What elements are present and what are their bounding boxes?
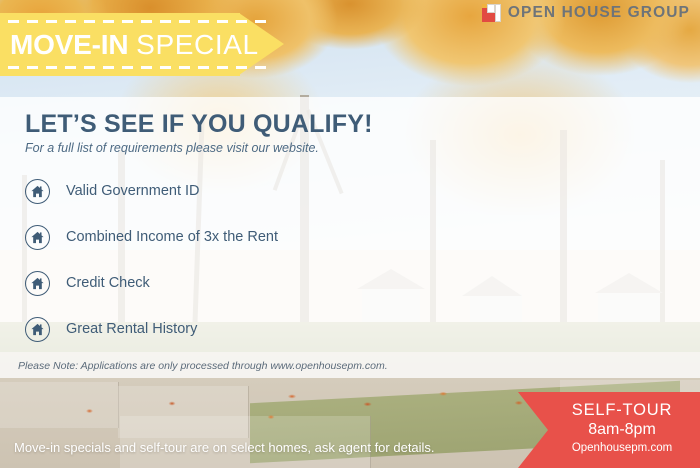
list-item-label: Valid Government ID (66, 183, 200, 199)
list-item-label: Combined Income of 3x the Rent (66, 229, 278, 245)
logo-text: OPEN HOUSE GROUP (508, 4, 690, 22)
brand-logo: OPEN HOUSE GROUP (482, 4, 690, 22)
house-badge-icon (25, 179, 50, 204)
page-title: LET’S SEE IF YOU QUALIFY! (25, 110, 373, 139)
ribbon-website: Openhousepm.com (548, 440, 696, 456)
list-item: Great Rental History (25, 306, 445, 352)
list-item-label: Credit Check (66, 275, 150, 291)
banner-bold-text: MOVE-IN (10, 29, 128, 60)
fallen-leaves (40, 396, 370, 426)
ribbon-hours: 8am-8pm (548, 420, 696, 440)
footer-disclaimer: Move-in specials and self-tour are on se… (14, 440, 435, 455)
banner-text: MOVE-IN SPECIAL (10, 30, 259, 60)
requirements-list: Valid Government ID Combined Income of 3… (25, 168, 445, 352)
house-badge-icon (25, 271, 50, 296)
application-note: Please Note: Applications are only proce… (18, 360, 388, 372)
house-badge-icon (25, 225, 50, 250)
list-item: Valid Government ID (25, 168, 445, 214)
ribbon-text-group: SELF-TOUR 8am-8pm Openhousepm.com (548, 400, 696, 456)
move-in-special-banner: MOVE-IN SPECIAL (0, 13, 284, 76)
house-book-logo-icon (482, 4, 501, 22)
page-subtitle: For a full list of requirements please v… (25, 141, 319, 155)
banner-light-text: SPECIAL (136, 29, 258, 60)
flyer-canvas: OPEN HOUSE GROUP MOVE-IN SPECIAL LET’S S… (0, 0, 700, 468)
self-tour-ribbon: SELF-TOUR 8am-8pm Openhousepm.com (500, 392, 700, 468)
list-item: Combined Income of 3x the Rent (25, 214, 445, 260)
banner-dashed-line-top (8, 20, 270, 23)
list-item-label: Great Rental History (66, 321, 197, 337)
banner-dashed-line-bottom (8, 66, 270, 69)
house-badge-icon (25, 317, 50, 342)
list-item: Credit Check (25, 260, 445, 306)
ribbon-title: SELF-TOUR (548, 400, 696, 420)
